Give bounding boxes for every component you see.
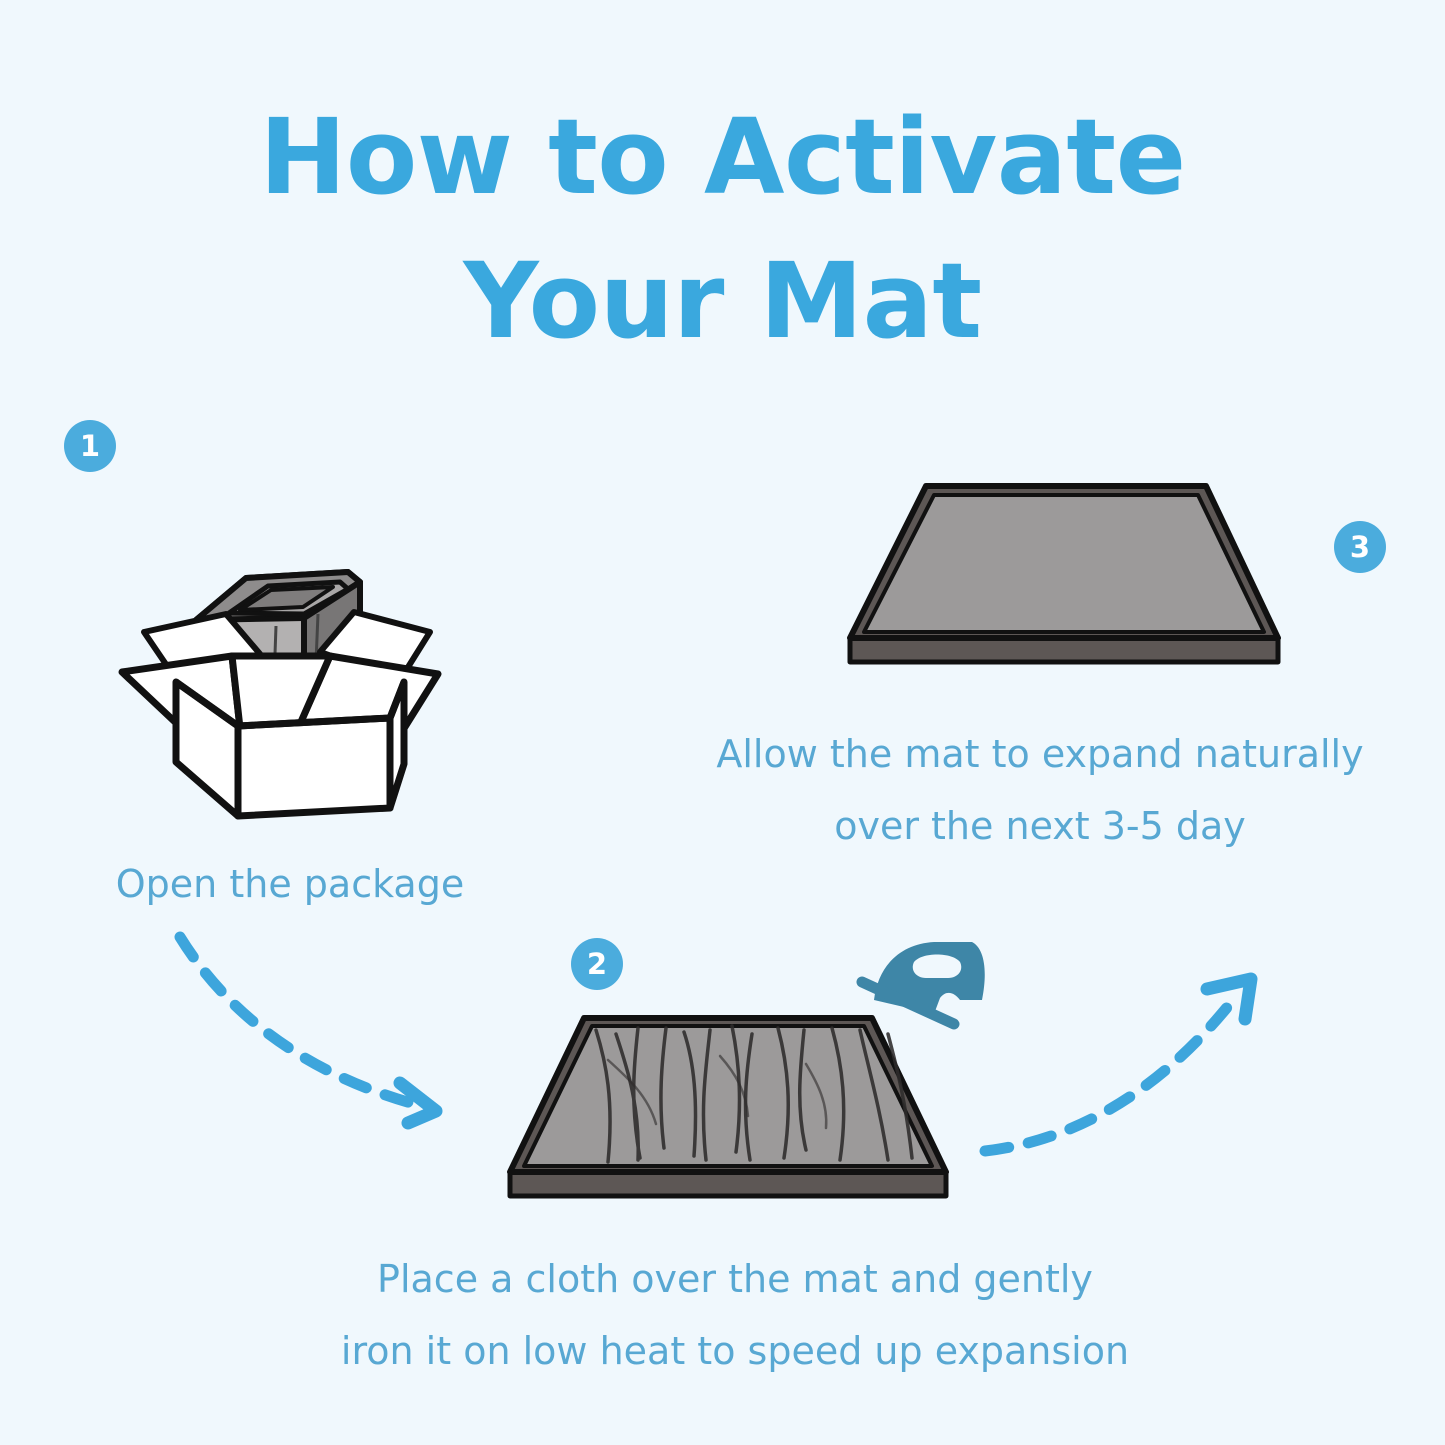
page-title-line-2: Your Mat	[0, 230, 1445, 374]
step-1-caption-line-1: Open the package	[40, 848, 540, 920]
step-2-caption-line-1: Place a cloth over the mat and gently	[245, 1243, 1225, 1315]
open-box-illustration	[108, 486, 468, 826]
flat-mat-icon	[828, 468, 1298, 683]
infographic-canvas: How to Activate Your Mat 1	[0, 0, 1445, 1445]
arrow-step1-to-step2	[168, 925, 498, 1140]
page-title-line-1: How to Activate	[0, 86, 1445, 230]
flat-mat-illustration	[828, 468, 1298, 683]
step-2-number-badge: 2	[571, 938, 623, 990]
dashed-curved-arrow-up-right-icon	[975, 955, 1285, 1185]
step-3-caption: Allow the mat to expand naturally over t…	[660, 718, 1420, 862]
step-3-caption-line-1: Allow the mat to expand naturally	[660, 718, 1420, 790]
step-3-number-badge: 3	[1334, 521, 1386, 573]
page-title: How to Activate Your Mat	[0, 86, 1445, 373]
step-1-number-badge: 1	[64, 420, 116, 472]
dashed-curved-arrow-down-right-icon	[168, 925, 498, 1140]
open-cardboard-box-icon	[108, 486, 468, 826]
step-3-caption-line-2: over the next 3-5 day	[660, 790, 1420, 862]
arrow-step2-to-step3	[975, 955, 1285, 1185]
step-2-caption: Place a cloth over the mat and gently ir…	[245, 1243, 1225, 1387]
step-1-caption: Open the package	[40, 848, 540, 920]
step-2-caption-line-2: iron it on low heat to speed up expansio…	[245, 1315, 1225, 1387]
